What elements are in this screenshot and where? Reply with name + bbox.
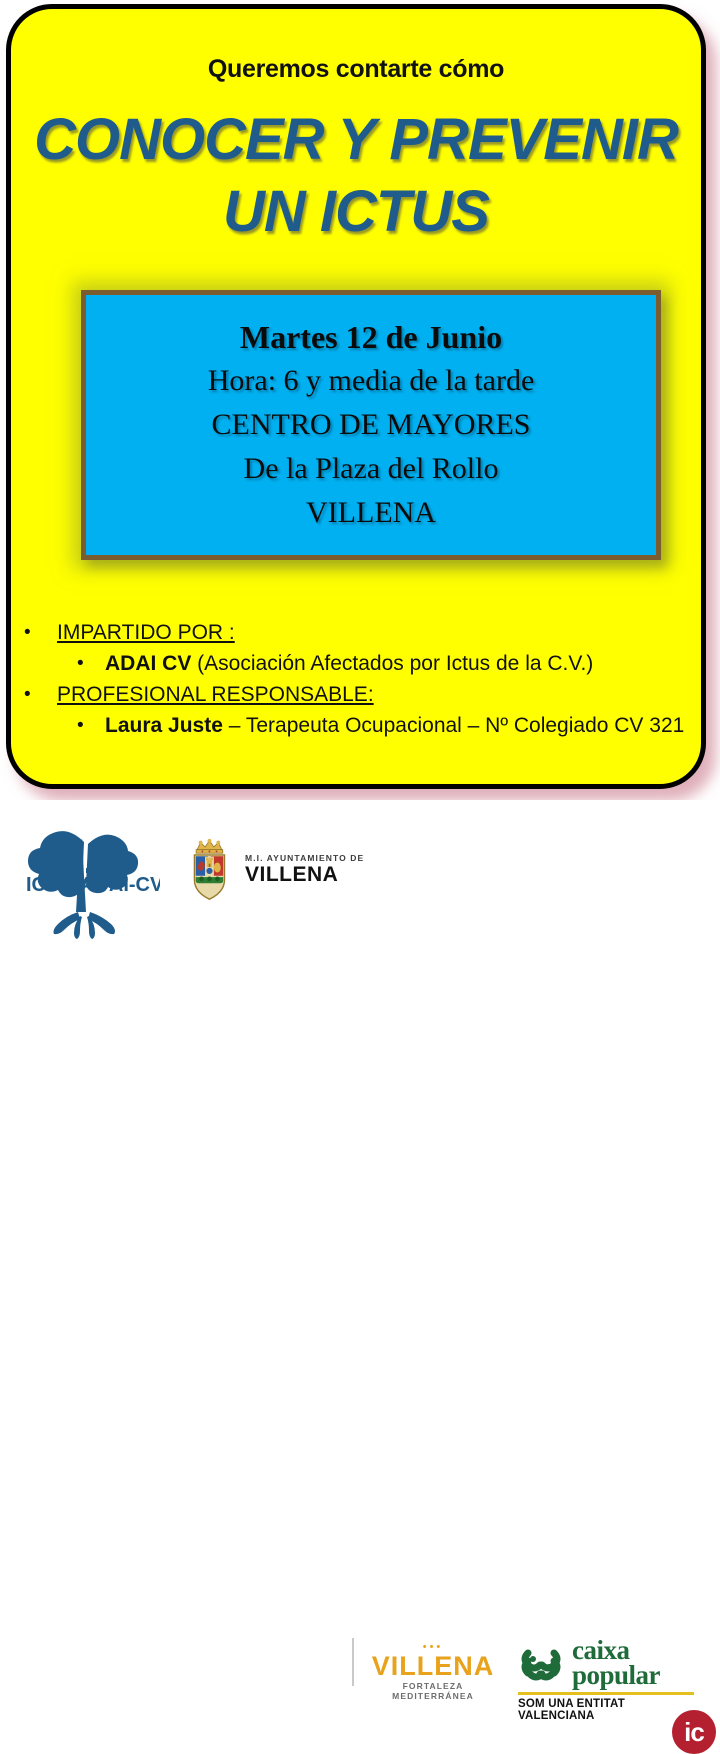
- page-title: CONOCER Y PREVENIR UN ICTUS: [11, 104, 701, 248]
- event-address: De la Plaza del Rollo: [244, 447, 499, 491]
- organizer-entry: ADAI CV (Asociación Afectados por Ictus …: [105, 648, 593, 679]
- bullet-icon: •: [24, 617, 31, 648]
- event-date: Martes 12 de Junio: [240, 315, 502, 359]
- ictus-adai-cv-logo: ICTUS ADAI-CV: [12, 808, 160, 940]
- headline-line-1: CONOCER Y PREVENIR: [34, 107, 678, 172]
- organizer-fullname: (Asociación Afectados por Ictus de la C.…: [191, 652, 593, 675]
- adai-word-2: ADAI-CV: [80, 874, 160, 896]
- ayuntamiento-villena-logo: M.I. AYUNTAMIENTO DE VILLENA: [190, 830, 364, 910]
- headline-line-2: UN ICTUS: [11, 176, 701, 248]
- bullet-icon: •: [77, 710, 84, 741]
- sponsor-footer: ICTUS ADAI-CV: [0, 800, 720, 960]
- ayuntamiento-big-label: VILLENA: [245, 864, 364, 886]
- villena-brand-logo: ••• VILLENA FORTALEZA MEDITERRÁNEA: [368, 1643, 498, 1701]
- villena-dots-icon: •••: [368, 1643, 498, 1651]
- speaker-name: Laura Juste: [105, 714, 223, 737]
- caixa-popular-logo: caixa popular SOM UNA ENTITAT VALENCIANA: [518, 1638, 698, 1722]
- adai-word-1: ICTUS: [26, 874, 86, 896]
- caixa-top-row: caixa popular: [518, 1638, 698, 1688]
- poster-panel: Queremos contarte cómo CONOCER Y PREVENI…: [6, 4, 706, 789]
- list-item: • ADAI CV (Asociación Afectados por Ictu…: [11, 648, 706, 679]
- bullet-icon: •: [24, 679, 31, 710]
- caixa-tagline: SOM UNA ENTITAT VALENCIANA: [518, 1698, 698, 1722]
- villena-brand-name: VILLENA: [368, 1651, 498, 1681]
- ayuntamiento-text: M.I. AYUNTAMIENTO DE VILLENA: [245, 854, 364, 887]
- event-time: Hora: 6 y media de la tarde: [208, 359, 535, 403]
- impartido-por-label: IMPARTIDO POR :: [57, 617, 235, 648]
- bullet-icon: •: [77, 648, 84, 679]
- list-item: • IMPARTIDO POR :: [11, 617, 706, 648]
- details-list: • IMPARTIDO POR : • ADAI CV (Asociación …: [11, 617, 706, 741]
- event-city: VILLENA: [306, 491, 436, 535]
- event-venue: CENTRO DE MAYORES: [212, 403, 531, 447]
- poster-page: Queremos contarte cómo CONOCER Y PREVENI…: [0, 0, 720, 960]
- caixa-word-2: popular: [572, 1663, 660, 1688]
- tree-icon: ICTUS ADAI-CV: [12, 808, 160, 940]
- ic-badge-text: ic: [672, 1710, 716, 1754]
- profesional-responsable-label: PROFESIONAL RESPONSABLE:: [57, 679, 374, 710]
- ayuntamiento-small-label: M.I. AYUNTAMIENTO DE: [245, 854, 364, 863]
- poster-kicker: Queremos contarte cómo: [11, 55, 701, 84]
- event-details-box: Martes 12 de Junio Hora: 6 y media de la…: [81, 290, 661, 560]
- list-item: • Laura Juste – Terapeuta Ocupacional – …: [11, 710, 706, 741]
- list-item: • PROFESIONAL RESPONSABLE:: [11, 679, 706, 710]
- speaker-credentials: – Terapeuta Ocupacional – Nº Colegiado C…: [223, 714, 684, 737]
- speaker-entry: Laura Juste – Terapeuta Ocupacional – Nº…: [105, 710, 684, 741]
- villena-coat-of-arms-icon: [190, 837, 236, 903]
- footer-divider: [352, 1638, 354, 1686]
- caixa-wordmark: caixa popular: [572, 1638, 660, 1688]
- villena-brand-tagline: FORTALEZA MEDITERRÁNEA: [368, 1681, 498, 1701]
- caixa-word-1: caixa: [572, 1638, 660, 1663]
- organizer-name: ADAI CV: [105, 652, 191, 675]
- ic-badge-logo: ic: [672, 1710, 716, 1754]
- event-details-list: Martes 12 de Junio Hora: 6 y media de la…: [86, 295, 656, 555]
- caixa-knot-icon: [518, 1643, 564, 1683]
- caixa-rule: [518, 1692, 694, 1695]
